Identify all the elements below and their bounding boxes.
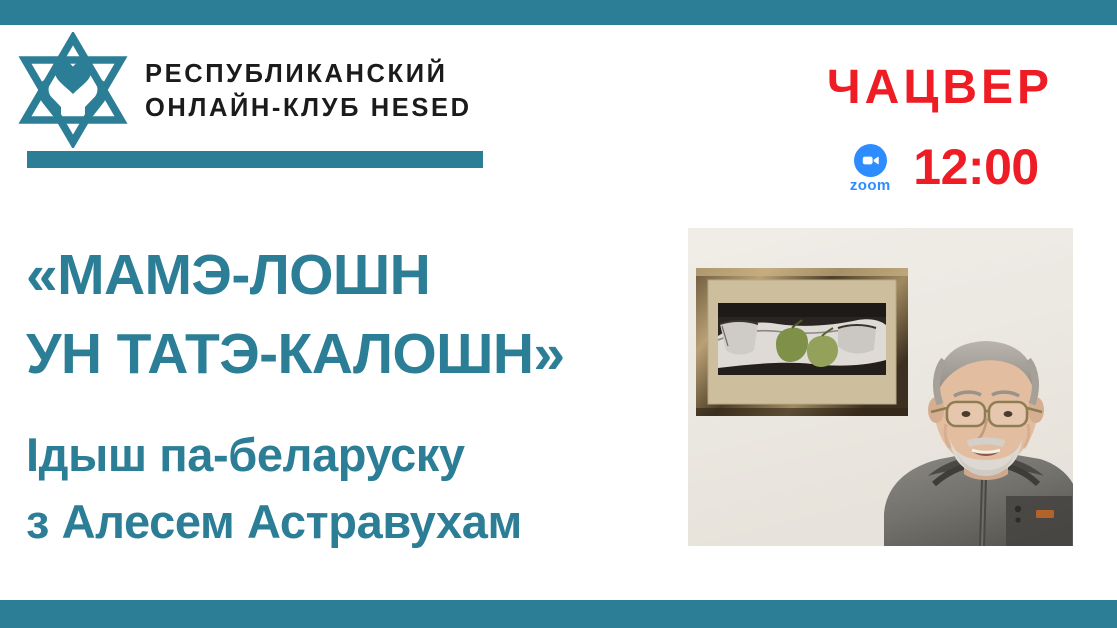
zoom-video-camera-icon [854, 144, 887, 177]
top-accent-bar [0, 0, 1117, 25]
zoom-wordmark: zoom [850, 178, 891, 193]
speaker-photo [688, 228, 1073, 546]
subtitle-line-1: Ідыш па-беларуску [26, 422, 666, 489]
event-subtitle: Ідыш па-беларуску з Алесем Астравухам [26, 422, 666, 555]
poster-canvas: РЕСПУБЛИКАНСКИЙ ОНЛАЙН-КЛУБ HESED ЧАЦВЕР… [0, 0, 1117, 628]
still-life-pears-painting [696, 268, 908, 416]
bottom-accent-bar [0, 600, 1117, 628]
schedule-time-row: zoom 12:00 [790, 136, 1090, 198]
headline-line-1: «МАМЭ-ЛОШН [26, 236, 666, 315]
day-label: ЧАЦВЕР [790, 64, 1090, 112]
brand-line-2: ОНЛАЙН-КЛУБ HESED [145, 91, 565, 125]
event-headline: «МАМЭ-ЛОШН УН ТАТЭ-КАЛОШН» [26, 236, 666, 393]
zoom-logo: zoom [841, 144, 899, 193]
brand-underline-bar [27, 151, 483, 168]
subtitle-line-2: з Алесем Астравухам [26, 489, 666, 556]
brand-line-1: РЕСПУБЛИКАНСКИЙ [145, 57, 565, 91]
star-of-david-heart-hands-icon [17, 32, 129, 148]
event-time: 12:00 [913, 142, 1038, 192]
brand-wordmark: РЕСПУБЛИКАНСКИЙ ОНЛАЙН-КЛУБ HESED [145, 57, 565, 125]
headline-line-2: УН ТАТЭ-КАЛОШН» [26, 315, 666, 394]
